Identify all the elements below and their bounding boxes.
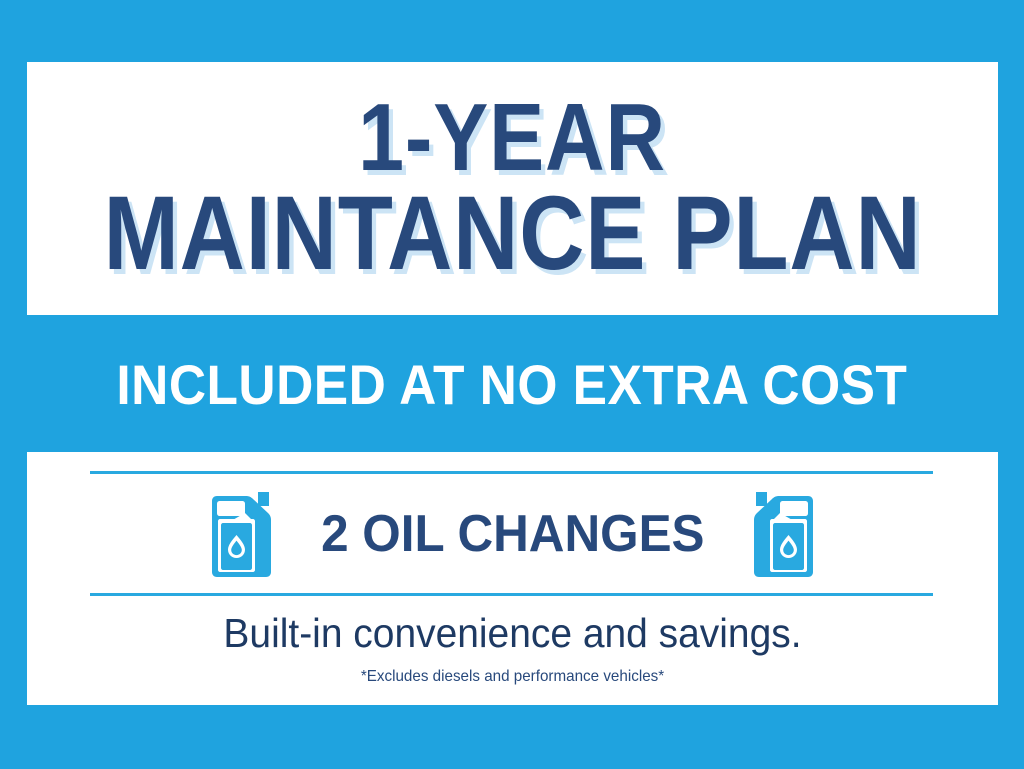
subtitle-band: INCLUDED AT NO EXTRA COST [0, 328, 1024, 440]
divider-bottom [90, 593, 933, 596]
offer-card: 2 OIL CHANGES Built-in convenience and s… [27, 452, 998, 705]
headline-line-2: MAINTANCE PLAN [104, 186, 922, 283]
fineprint-disclaimer: *Excludes diesels and performance vehicl… [51, 668, 973, 686]
offer-row: 2 OIL CHANGES [27, 482, 998, 586]
offer-label: 2 OIL CHANGES [321, 504, 704, 564]
divider-top [90, 471, 933, 474]
oil-jug-icon-left [205, 488, 273, 580]
tagline-text: Built-in convenience and savings. [51, 610, 973, 657]
headline-card: 1-YEAR MAINTANCE PLAN [27, 62, 998, 315]
oil-jug-icon-right [752, 488, 820, 580]
promo-poster: 1-YEAR MAINTANCE PLAN INCLUDED AT NO EXT… [0, 0, 1024, 769]
subtitle-text: INCLUDED AT NO EXTRA COST [117, 352, 908, 417]
headline-line-1: 1-YEAR [359, 94, 667, 182]
